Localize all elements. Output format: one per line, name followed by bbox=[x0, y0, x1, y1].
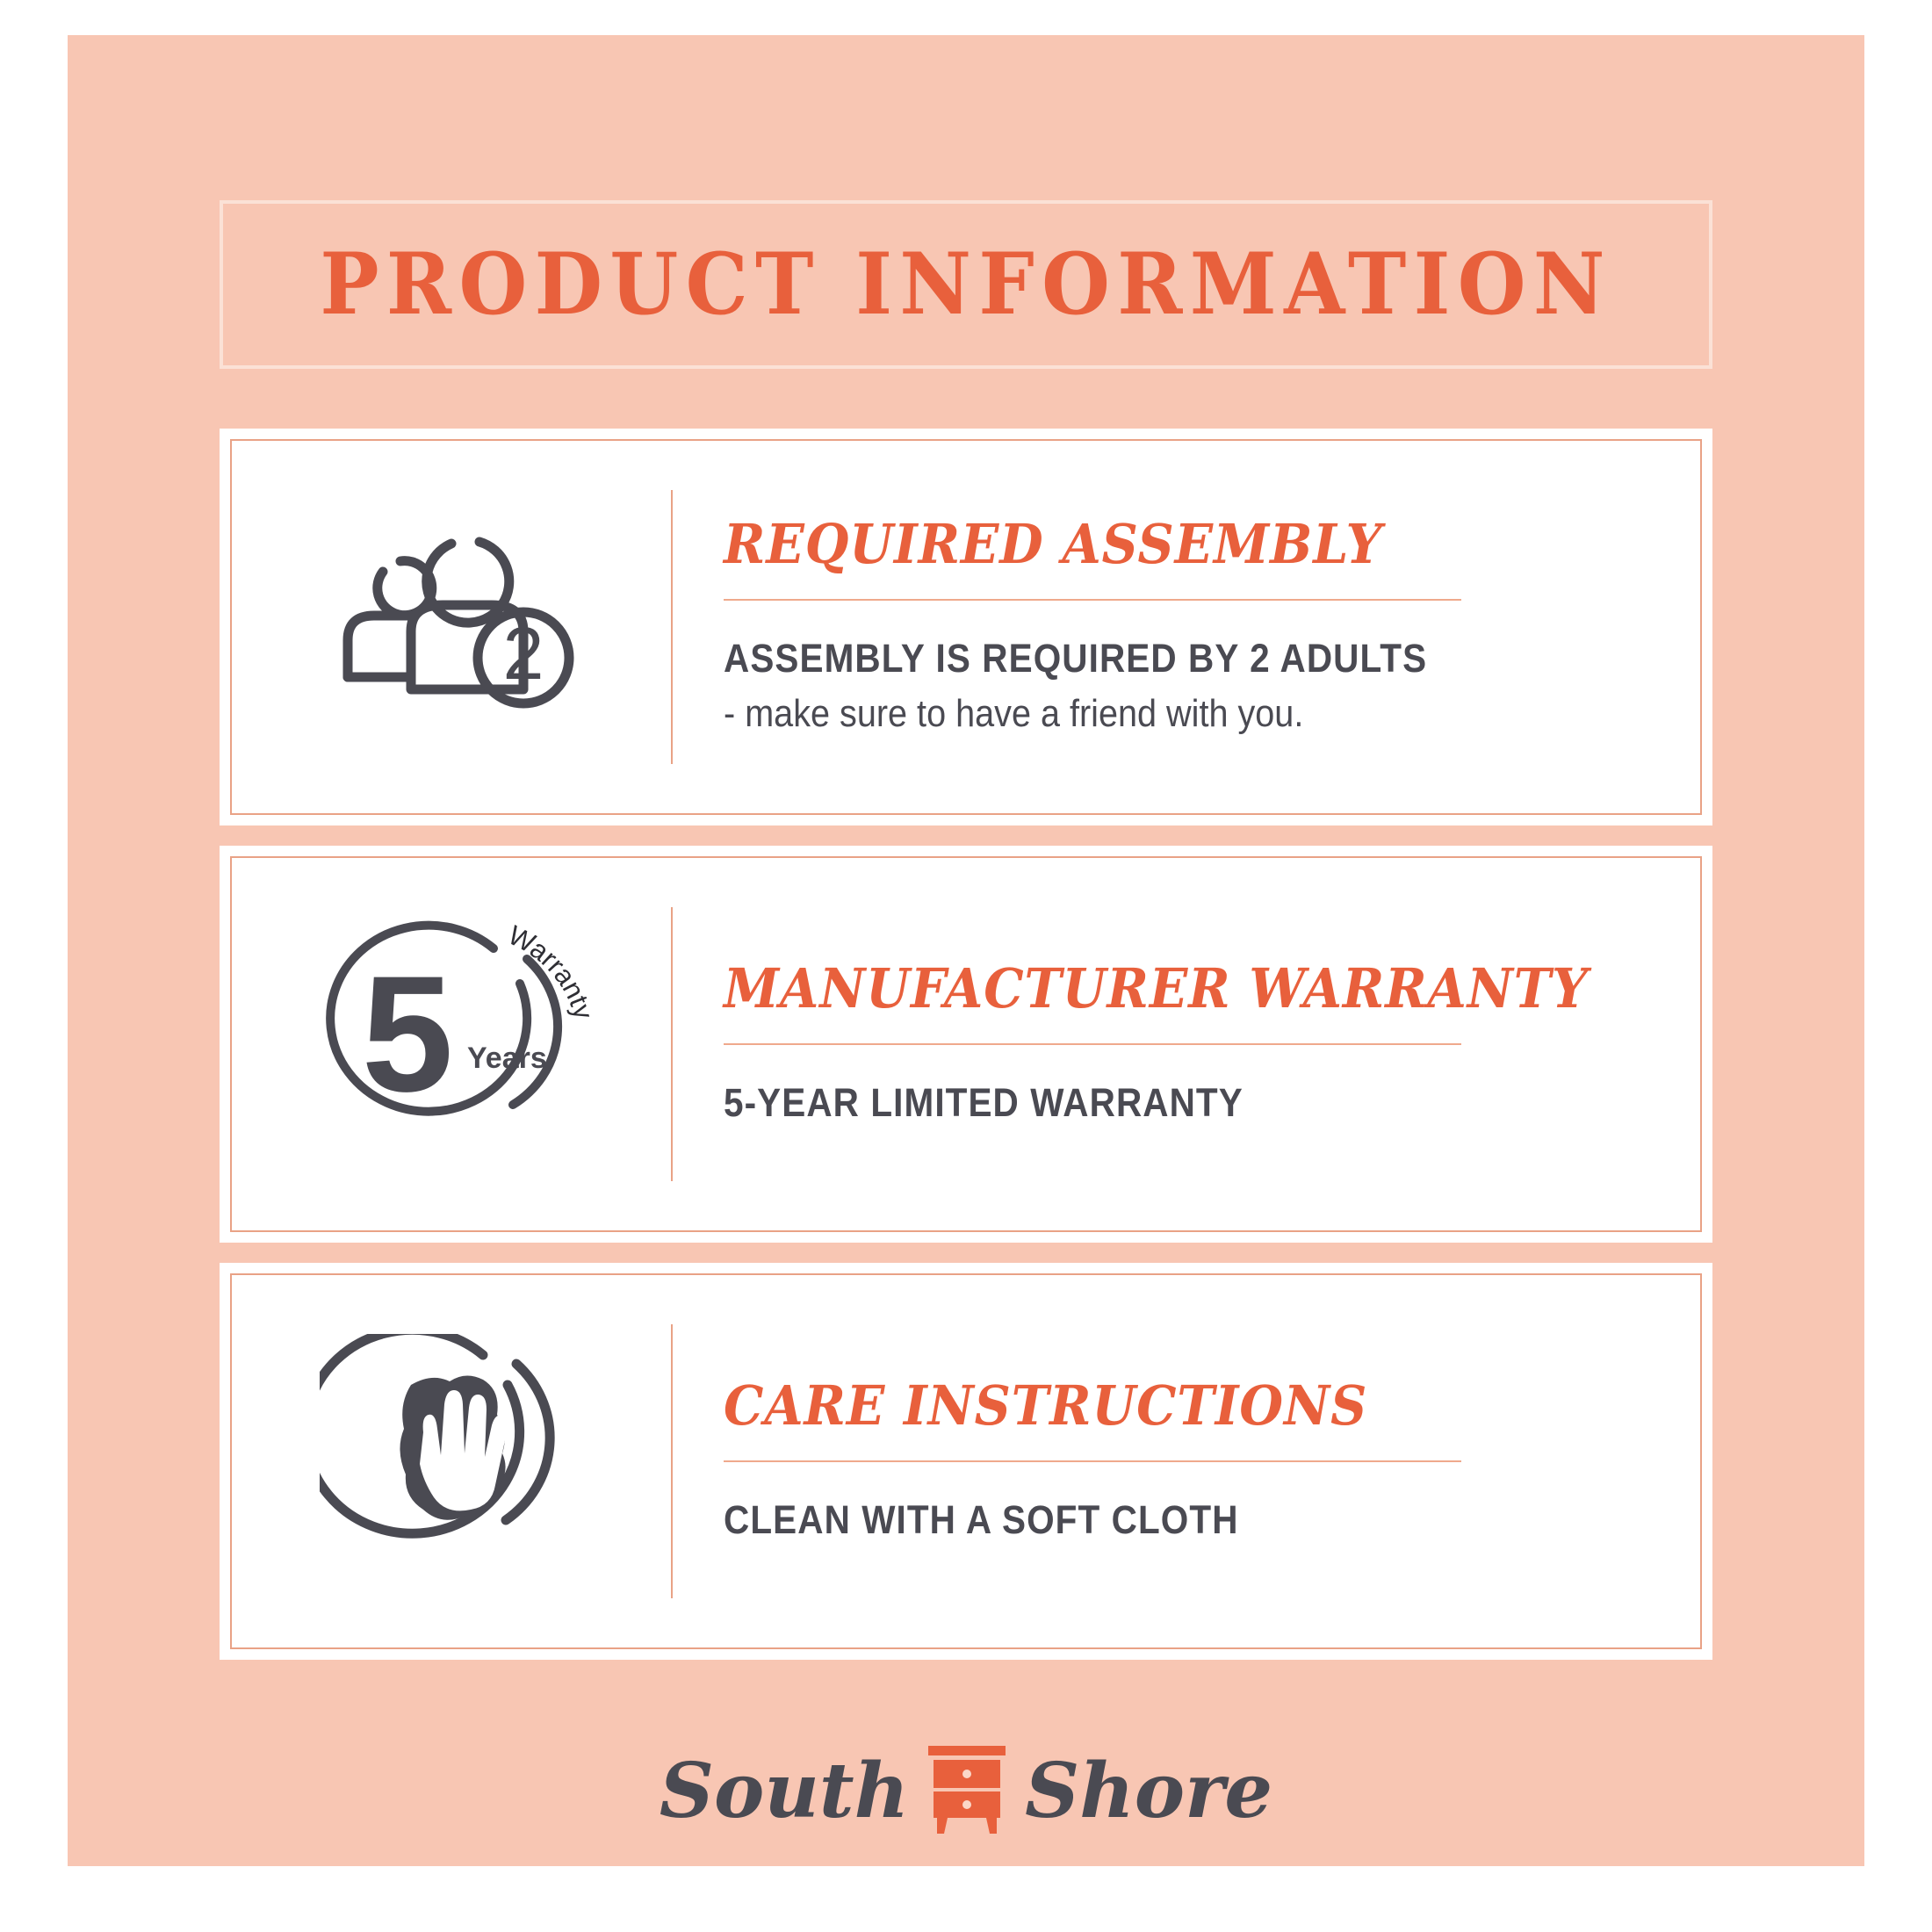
nightstand-icon bbox=[925, 1744, 1009, 1840]
warranty-detail-primary: 5-YEAR LIMITED WARRANTY bbox=[724, 1078, 1569, 1128]
warranty-years-number: 5 bbox=[362, 941, 454, 1126]
brand-logo: South Shore bbox=[0, 1717, 1932, 1866]
care-heading-rule bbox=[724, 1460, 1461, 1462]
warranty-heading: MANUFACTURER WARRANTY bbox=[724, 960, 1589, 1017]
card-inner-border: 2 REQUIRED ASSEMBLY ASSEMBLY IS REQUIRED… bbox=[230, 439, 1702, 815]
assembly-heading-rule bbox=[724, 599, 1461, 601]
logo-word-shore: Shore bbox=[1025, 1754, 1272, 1829]
card-required-assembly: 2 REQUIRED ASSEMBLY ASSEMBLY IS REQUIRED… bbox=[220, 429, 1712, 825]
page-title: PRODUCT INFORMATION bbox=[320, 242, 1612, 327]
warranty-text-cell: MANUFACTURER WARRANTY 5-YEAR LIMITED WAR… bbox=[673, 858, 1707, 1230]
care-detail-primary: CLEAN WITH A SOFT CLOTH bbox=[724, 1496, 1563, 1545]
warranty-years-label: Years bbox=[467, 1042, 547, 1075]
warranty-arc-label: Warranty bbox=[503, 919, 592, 1023]
page-title-box: PRODUCT INFORMATION bbox=[220, 200, 1712, 369]
care-icon-cell bbox=[232, 1275, 671, 1647]
card-care-instructions: CARE INSTRUCTIONS CLEAN WITH A SOFT CLOT… bbox=[220, 1263, 1712, 1660]
two-people-assembly-icon: 2 bbox=[320, 517, 583, 737]
page-canvas: PRODUCT INFORMATION bbox=[0, 0, 1932, 1932]
hand-with-cloth-care-icon bbox=[320, 1334, 583, 1589]
assembly-text-cell: REQUIRED ASSEMBLY ASSEMBLY IS REQUIRED B… bbox=[673, 441, 1700, 813]
assembly-badge-count: 2 bbox=[503, 612, 544, 695]
care-heading: CARE INSTRUCTIONS bbox=[724, 1377, 1582, 1434]
card-inner-border: CARE INSTRUCTIONS CLEAN WITH A SOFT CLOT… bbox=[230, 1273, 1702, 1649]
warranty-icon-cell: 5 Years Warranty bbox=[232, 858, 671, 1230]
five-year-warranty-seal-icon: 5 Years Warranty bbox=[311, 917, 592, 1171]
assembly-icon-cell: 2 bbox=[232, 441, 671, 813]
assembly-heading: REQUIRED ASSEMBLY bbox=[724, 515, 1582, 573]
card-manufacturer-warranty: 5 Years Warranty MANUFACTURER WARRANTY bbox=[220, 846, 1712, 1243]
logo-word-south: South bbox=[660, 1754, 909, 1829]
card-inner-border: 5 Years Warranty MANUFACTURER WARRANTY bbox=[230, 856, 1702, 1232]
assembly-detail-secondary: - make sure to have a friend with you. bbox=[724, 688, 1563, 739]
assembly-detail-primary: ASSEMBLY IS REQUIRED BY 2 ADULTS bbox=[724, 634, 1563, 683]
care-text-cell: CARE INSTRUCTIONS CLEAN WITH A SOFT CLOT… bbox=[673, 1275, 1700, 1647]
warranty-heading-rule bbox=[724, 1043, 1461, 1045]
